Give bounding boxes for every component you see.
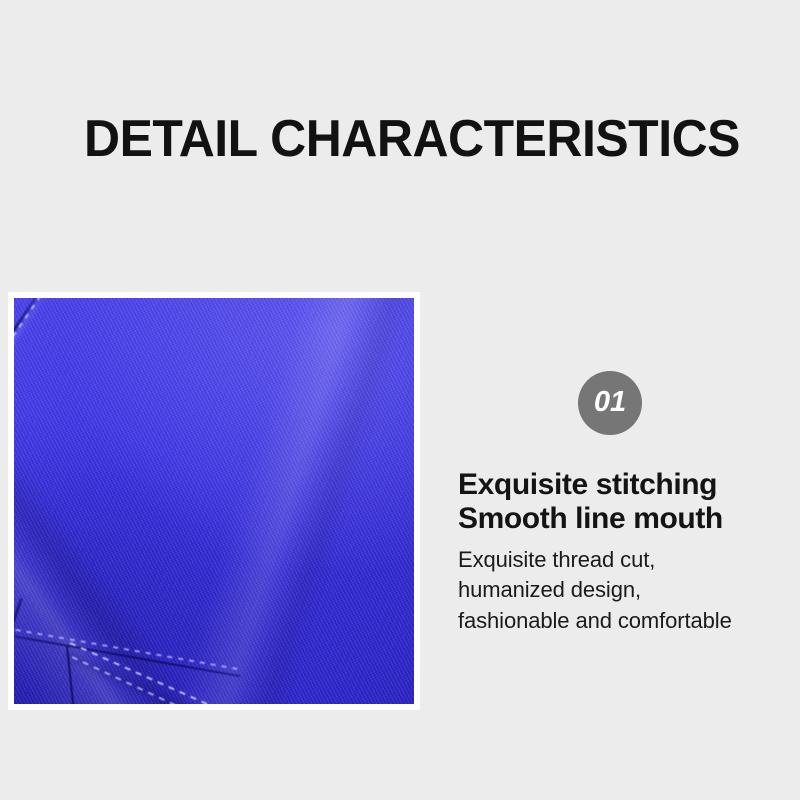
feature-description-line-2: humanized design, (458, 575, 788, 605)
feature-headline: Exquisite stitching Smooth line mouth (458, 468, 778, 536)
product-detail-banner: DETAIL CHARACTERISTICS 01 Exquisite st (0, 0, 800, 800)
product-photo-frame (8, 292, 420, 710)
fabric-vignette (14, 298, 414, 704)
feature-description-line-3: fashionable and comfortable (458, 606, 788, 636)
feature-number-badge: 01 (578, 371, 642, 435)
feature-headline-line-2: Smooth line mouth (458, 502, 778, 536)
feature-headline-line-1: Exquisite stitching (458, 468, 778, 502)
feature-description: Exquisite thread cut, humanized design, … (458, 545, 788, 636)
page-title: DETAIL CHARACTERISTICS (84, 112, 740, 167)
fabric-closeup-photo (14, 298, 414, 704)
feature-number-badge-label: 01 (594, 388, 626, 417)
feature-description-line-1: Exquisite thread cut, (458, 545, 788, 575)
